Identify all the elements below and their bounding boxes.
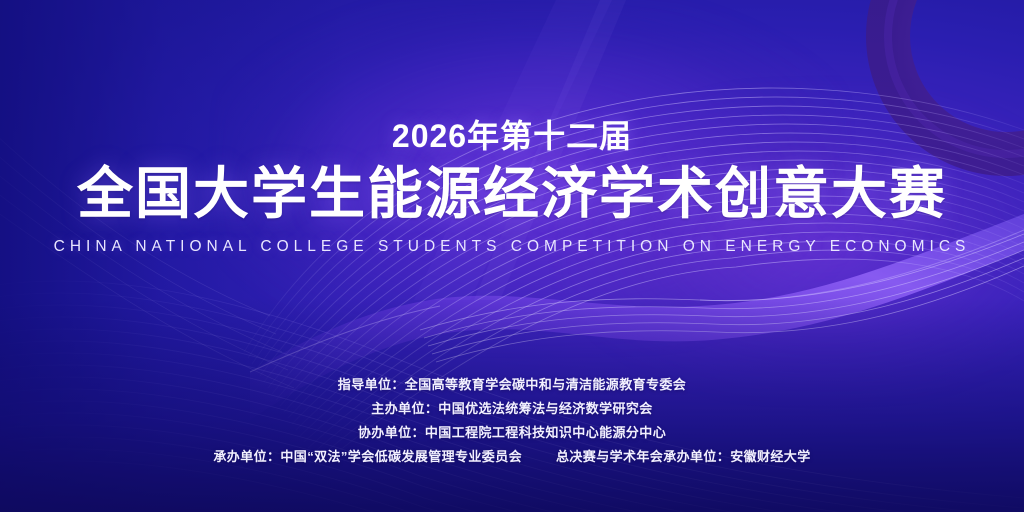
organizer-line-host: 主办单位：中国优选法统筹法与经济数学研究会	[0, 397, 1024, 421]
page-title: 全国大学生能源经济学术创意大赛	[0, 162, 1024, 226]
organizer-line-undertaker: 承办单位：中国“双法”学会低碳发展管理专业委员会	[213, 445, 522, 469]
organizer-line-undertakers: 承办单位：中国“双法”学会低碳发展管理专业委员会 总决赛与学术年会承办单位：安徽…	[0, 445, 1024, 469]
organizer-line-co-organizer: 协办单位：中国工程院工程科技知识中心能源分中心	[0, 421, 1024, 445]
organizer-block: 指导单位：全国高等教育学会碳中和与清洁能源教育专委会 主办单位：中国优选法统筹法…	[0, 373, 1024, 469]
title-block: 2026年第十二届 全国大学生能源经济学术创意大赛 CHINA NATIONAL…	[0, 118, 1024, 256]
conference-banner: 2026年第十二届 全国大学生能源经济学术创意大赛 CHINA NATIONAL…	[0, 0, 1024, 512]
english-subtitle: CHINA NATIONAL COLLEGE STUDENTS COMPETIT…	[0, 238, 1024, 257]
organizer-line-guidance: 指导单位：全国高等教育学会碳中和与清洁能源教育专委会	[0, 373, 1024, 397]
banner-content: 2026年第十二届 全国大学生能源经济学术创意大赛 CHINA NATIONAL…	[0, 0, 1024, 512]
year-edition-line: 2026年第十二届	[0, 118, 1024, 156]
organizer-line-final-undertaker: 总决赛与学术年会承办单位：安徽财经大学	[556, 445, 811, 469]
